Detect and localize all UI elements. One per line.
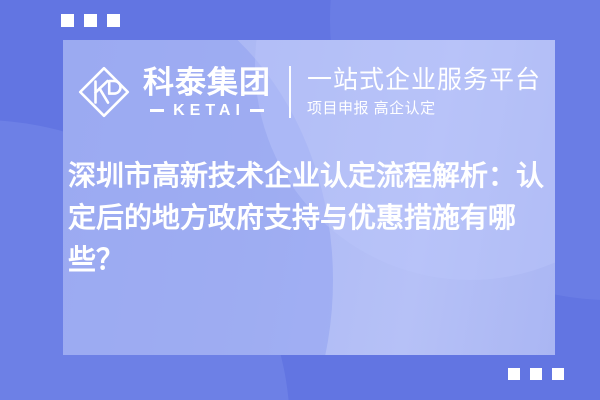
decor-squares-top-left	[61, 14, 120, 27]
brand-header: 科泰集团 KETAI 一站式企业服务平台 项目申报 高企认定	[76, 46, 541, 138]
brand-name-en: KETAI	[173, 102, 245, 119]
dash-left-icon	[150, 109, 164, 112]
content-panel: 科泰集团 KETAI 一站式企业服务平台 项目申报 高企认定 深圳市高新技术企业…	[63, 40, 555, 355]
slogan-secondary: 项目申报 高企认定	[307, 98, 541, 120]
decor-square	[107, 14, 120, 27]
decor-squares-bottom-right	[508, 368, 564, 380]
brand-name-en-row: KETAI	[143, 102, 271, 119]
article-title: 深圳市高新技术企业认定流程解析：认定后的地方政府支持与优惠措施有哪些？	[68, 155, 554, 281]
dash-right-icon	[250, 109, 264, 112]
brand-slogan: 一站式企业服务平台 项目申报 高企认定	[307, 65, 541, 120]
decor-square	[84, 14, 97, 27]
decor-square	[508, 368, 520, 380]
slogan-primary: 一站式企业服务平台	[307, 65, 541, 95]
ketai-logo-icon	[76, 64, 132, 120]
decor-square	[530, 368, 542, 380]
brand-wordmark: 科泰集团 KETAI	[143, 66, 271, 119]
decor-square	[552, 368, 564, 380]
header-divider	[289, 66, 291, 118]
article-cover-banner: 科泰集团 KETAI 一站式企业服务平台 项目申报 高企认定 深圳市高新技术企业…	[0, 0, 600, 400]
brand-name-cn: 科泰集团	[143, 66, 271, 100]
decor-square	[61, 14, 74, 27]
